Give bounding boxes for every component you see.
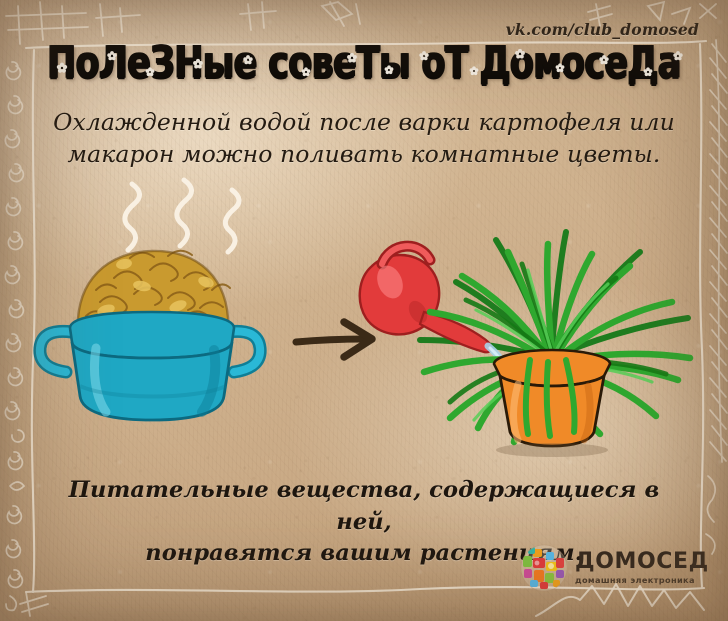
vk-url-label: vk.com/club_domosed — [489, 20, 699, 39]
brand-text: ДОМОСЕД домашняя электроника — [575, 551, 709, 584]
brand-tagline: домашняя электроника — [575, 576, 709, 584]
right-arrow-icon — [296, 322, 372, 357]
outro-line-1: Питательные вещества, содержащиеся в ней… — [40, 475, 688, 538]
lede-line-1: Охлажденной водой после варки картофеля … — [28, 106, 700, 138]
poster-root: vk.com/club_domosed ПоЛеЗНые совеТы оТ Д… — [0, 0, 728, 621]
illustration — [0, 160, 728, 460]
page-title: ПоЛеЗНые совеТы оТ ДомосеДа — [4, 38, 725, 89]
brand-lockup: ДОМОСЕД домашняя электроника — [520, 542, 710, 594]
brand-name: ДОМОСЕД — [575, 551, 709, 573]
steam-wisps — [125, 180, 239, 252]
pot-of-macaroni — [40, 251, 260, 420]
domosed-logo-icon — [520, 544, 568, 592]
